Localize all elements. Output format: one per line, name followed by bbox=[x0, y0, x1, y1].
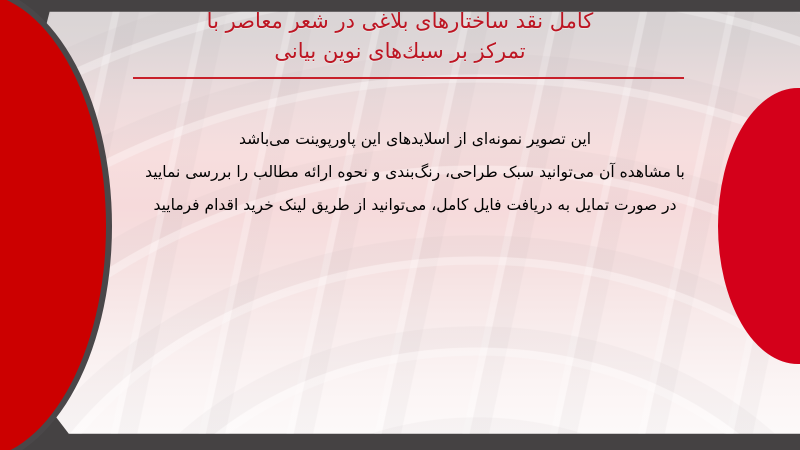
title-underline-rule bbox=[133, 77, 684, 79]
background-band-texture bbox=[0, 0, 800, 450]
slide-body-text: این تصویر نمونه‌ای از اسلایدهای این پاور… bbox=[120, 123, 710, 222]
body-text-line-2: با مشاهده آن می‌توانید سبک طراحی، رنگ‌بن… bbox=[120, 156, 710, 189]
body-text-line-1: این تصویر نمونه‌ای از اسلایدهای این پاور… bbox=[120, 123, 710, 156]
background-swirl-texture bbox=[0, 0, 800, 450]
body-text-line-3: در صورت تمایل به دریافت فایل کامل، می‌تو… bbox=[120, 189, 710, 222]
right-red-ellipse-decoration bbox=[718, 88, 800, 364]
slide-title-line-2: تمرکز بر سبك‌های نوین بیانی bbox=[0, 36, 800, 66]
slide-title-line-1: کامل نقد ساختارهای بلاغی در شعر معاصر با bbox=[0, 6, 800, 36]
slide-content-panel: کامل نقد ساختارهای بلاغی در شعر معاصر با… bbox=[0, 0, 800, 450]
presentation-slide: کامل نقد ساختارهای بلاغی در شعر معاصر با… bbox=[0, 0, 800, 450]
slide-title: کامل نقد ساختارهای بلاغی در شعر معاصر با… bbox=[0, 6, 800, 66]
